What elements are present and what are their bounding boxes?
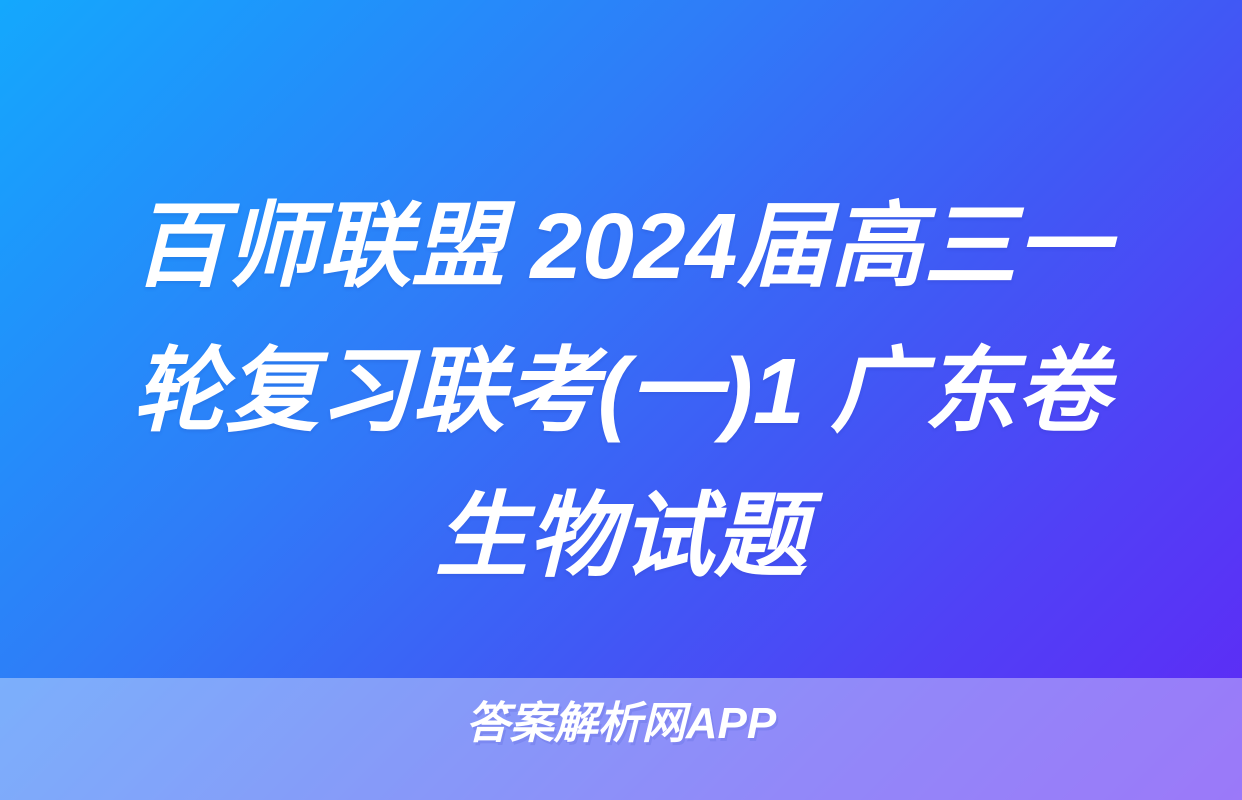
app-watermark-label: 答案解析网APP: [0, 698, 1242, 750]
title-line-2: 轮复习联考(一)1 广东卷: [38, 319, 1204, 464]
title-line-1: 百师联盟 2024届高三一: [38, 174, 1204, 319]
footer-band: 答案解析网APP: [0, 678, 1242, 800]
page-title: 百师联盟 2024届高三一 轮复习联考(一)1 广东卷 生物试题: [0, 174, 1242, 609]
poster-canvas: 百师联盟 2024届高三一 轮复习联考(一)1 广东卷 生物试题 答案解析网AP…: [0, 0, 1242, 800]
title-line-3: 生物试题: [38, 464, 1204, 609]
